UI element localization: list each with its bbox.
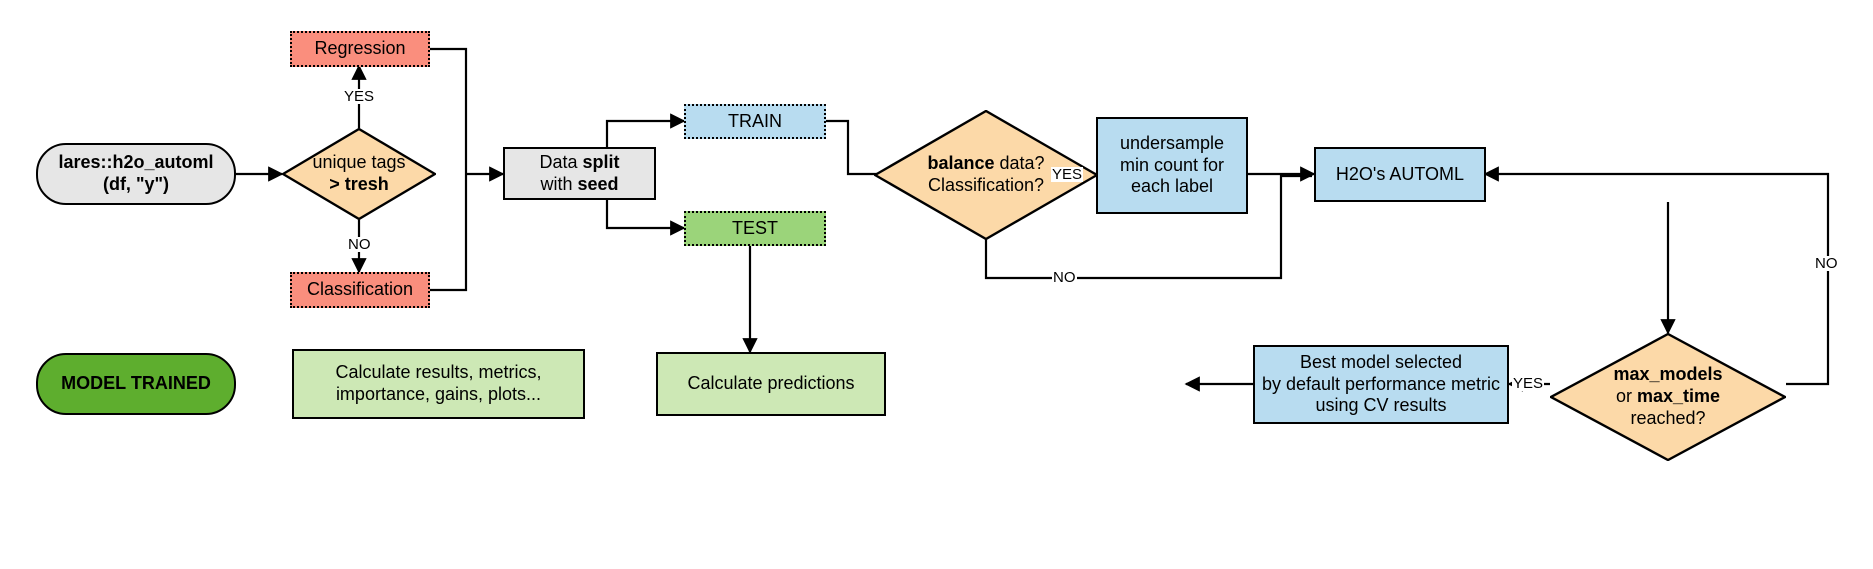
- predictions-label: Calculate predictions: [687, 373, 854, 395]
- edge-label-yes-balance: YES: [1051, 167, 1083, 182]
- node-data-split[interactable]: Data split with seed: [503, 147, 656, 200]
- model-trained-label: MODEL TRAINED: [61, 373, 211, 395]
- node-test[interactable]: TEST: [684, 211, 826, 246]
- best-model-line1: Best model selected: [1300, 352, 1462, 372]
- flowchart-canvas: lares::h2o_automl (df, "y") unique tags …: [0, 0, 1873, 569]
- test-label: TEST: [732, 218, 778, 240]
- undersample-line1: undersample: [1120, 133, 1224, 153]
- line-classification-right: [430, 174, 466, 290]
- undersample-line3: each label: [1131, 176, 1213, 196]
- node-train[interactable]: TRAIN: [684, 104, 826, 139]
- max-models-line3: reached?: [1630, 408, 1705, 428]
- edge-label-no-classification: NO: [347, 237, 372, 252]
- best-model-line2: by default performance metric: [1262, 374, 1500, 394]
- edge-label-yes-max-models: YES: [1512, 376, 1544, 391]
- line-regression-right: [430, 49, 466, 174]
- results-line2: importance, gains, plots...: [336, 384, 541, 404]
- data-split-line2-pre: with: [540, 174, 577, 194]
- best-model-line3: using CV results: [1315, 395, 1446, 415]
- balance-line1-rest: data?: [995, 153, 1045, 173]
- type-merge-lines: [0, 0, 1873, 569]
- data-split-line2-bold: seed: [577, 174, 618, 194]
- max-models-line2-pre: or: [1616, 386, 1637, 406]
- results-line1: Calculate results, metrics,: [335, 362, 541, 382]
- node-model-trained[interactable]: MODEL TRAINED: [36, 353, 236, 415]
- node-undersample[interactable]: undersample min count for each label: [1096, 117, 1248, 214]
- node-predictions[interactable]: Calculate predictions: [656, 352, 886, 416]
- data-split-line1-bold: split: [583, 152, 620, 172]
- balance-line2: Classification?: [928, 175, 1044, 195]
- undersample-line2: min count for: [1120, 155, 1224, 175]
- unique-tags-line1: unique tags: [312, 152, 405, 172]
- balance-label: balance data? Classification?: [927, 153, 1044, 197]
- edge-label-no-automl-loop: NO: [1814, 256, 1839, 271]
- node-best-model[interactable]: Best model selected by default performan…: [1253, 345, 1509, 424]
- edge-label-yes-regression: YES: [343, 89, 375, 104]
- edge-label-no-balance: NO: [1052, 270, 1077, 285]
- unique-tags-line2: > tresh: [329, 174, 389, 194]
- max-models-label: max_models or max_time reached?: [1613, 364, 1722, 430]
- automl-label: H2O's AUTOML: [1336, 164, 1464, 186]
- data-split-line1-pre: Data: [539, 152, 582, 172]
- node-max-models[interactable]: max_models or max_time reached?: [1550, 333, 1786, 461]
- train-label: TRAIN: [728, 111, 782, 133]
- balance-line1-bold: balance: [927, 153, 994, 173]
- node-automl[interactable]: H2O's AUTOML: [1314, 147, 1486, 202]
- node-results[interactable]: Calculate results, metrics, importance, …: [292, 349, 585, 419]
- max-models-line1-bold: max_models: [1613, 364, 1722, 384]
- max-models-line2-bold: max_time: [1637, 386, 1720, 406]
- unique-tags-label: unique tags > tresh: [312, 152, 405, 196]
